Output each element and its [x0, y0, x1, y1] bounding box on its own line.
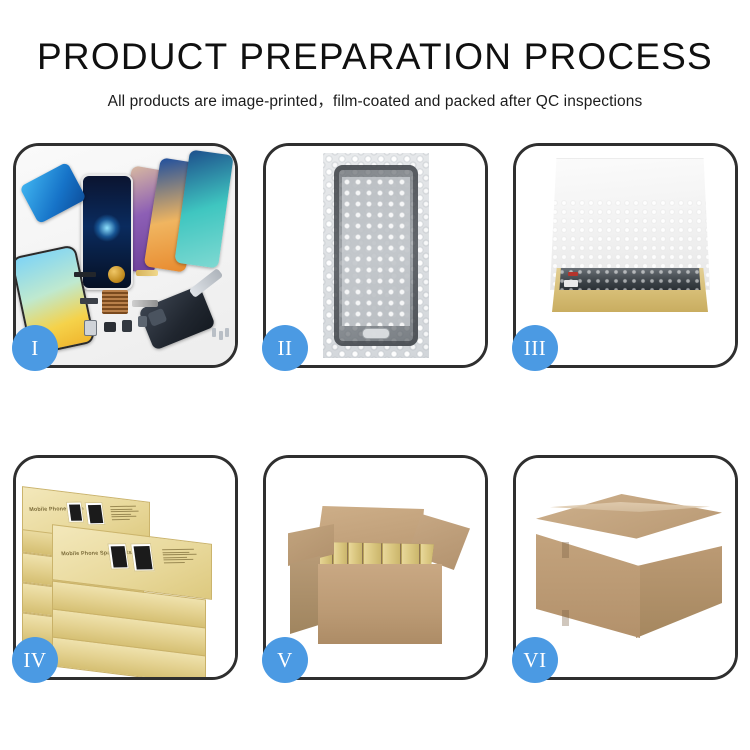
steps-row-2: Mobile Phone Spare Parts — [0, 455, 750, 680]
bubble-wrap-icon — [323, 153, 429, 358]
small-part-1-icon — [84, 320, 97, 336]
step-panel-4[interactable]: Mobile Phone Spare Parts — [13, 455, 238, 680]
spare-parts-cluster — [74, 264, 194, 354]
steps-row-1: I II III — [0, 143, 750, 368]
page-subtitle: All products are image-printed，film-coat… — [0, 89, 750, 111]
carton-side-panel — [636, 546, 722, 638]
red-marker-icon — [568, 272, 578, 276]
box-spec-lines — [110, 506, 142, 522]
step-panel-3[interactable]: III — [513, 143, 738, 368]
screws-icon — [212, 328, 230, 342]
carton-seam — [562, 542, 569, 558]
step-badge-3: III — [512, 325, 558, 371]
step-panel-2[interactable]: II — [263, 143, 488, 368]
box-thumbnail — [66, 501, 85, 522]
boxed-screen-icon — [558, 268, 702, 290]
steps-grid: I II III — [0, 143, 750, 680]
connector-bar-icon — [74, 272, 96, 277]
step-badge-6: VI — [512, 637, 558, 683]
step-panel-5[interactable]: V — [263, 455, 488, 680]
step-badge-2: II — [262, 325, 308, 371]
step-panel-1[interactable]: I — [13, 143, 238, 368]
screen-assembly-blue-icon — [19, 162, 86, 224]
step-badge-4: IV — [12, 637, 58, 683]
product-preparation-infographic: PRODUCT PREPARATION PROCESS All products… — [0, 0, 750, 750]
flex-cable-silver-icon — [132, 300, 158, 307]
coil-part-icon — [108, 266, 125, 283]
carton-front-panel — [318, 564, 442, 644]
box-thumbnail — [130, 543, 155, 572]
white-label-icon — [564, 280, 578, 287]
page-title: PRODUCT PREPARATION PROCESS — [0, 36, 750, 78]
small-part-3-icon — [122, 320, 132, 332]
box-spec-lines — [162, 549, 200, 565]
header: PRODUCT PREPARATION PROCESS All products… — [0, 0, 750, 111]
box-stack-icon: Mobile Phone Spare Parts — [22, 472, 234, 668]
step-panel-6[interactable]: VI — [513, 455, 738, 680]
carton-seam — [562, 610, 569, 626]
grid-part-icon — [102, 290, 128, 314]
small-part-4-icon — [138, 316, 147, 327]
sealed-carton-icon — [536, 494, 722, 652]
carton-side-panel — [290, 556, 320, 634]
small-part-2-icon — [104, 322, 116, 332]
connector-bar-2-icon — [80, 298, 98, 304]
open-carton-icon — [290, 500, 470, 650]
carton-front-panel — [536, 534, 640, 638]
box-thumbnail — [84, 502, 105, 525]
flex-cable-gold-icon — [136, 270, 158, 276]
box-thumbnail — [107, 543, 129, 570]
wrapped-screen-icon — [334, 165, 418, 346]
step-badge-5: V — [262, 637, 308, 683]
step-badge-1: I — [12, 325, 58, 371]
